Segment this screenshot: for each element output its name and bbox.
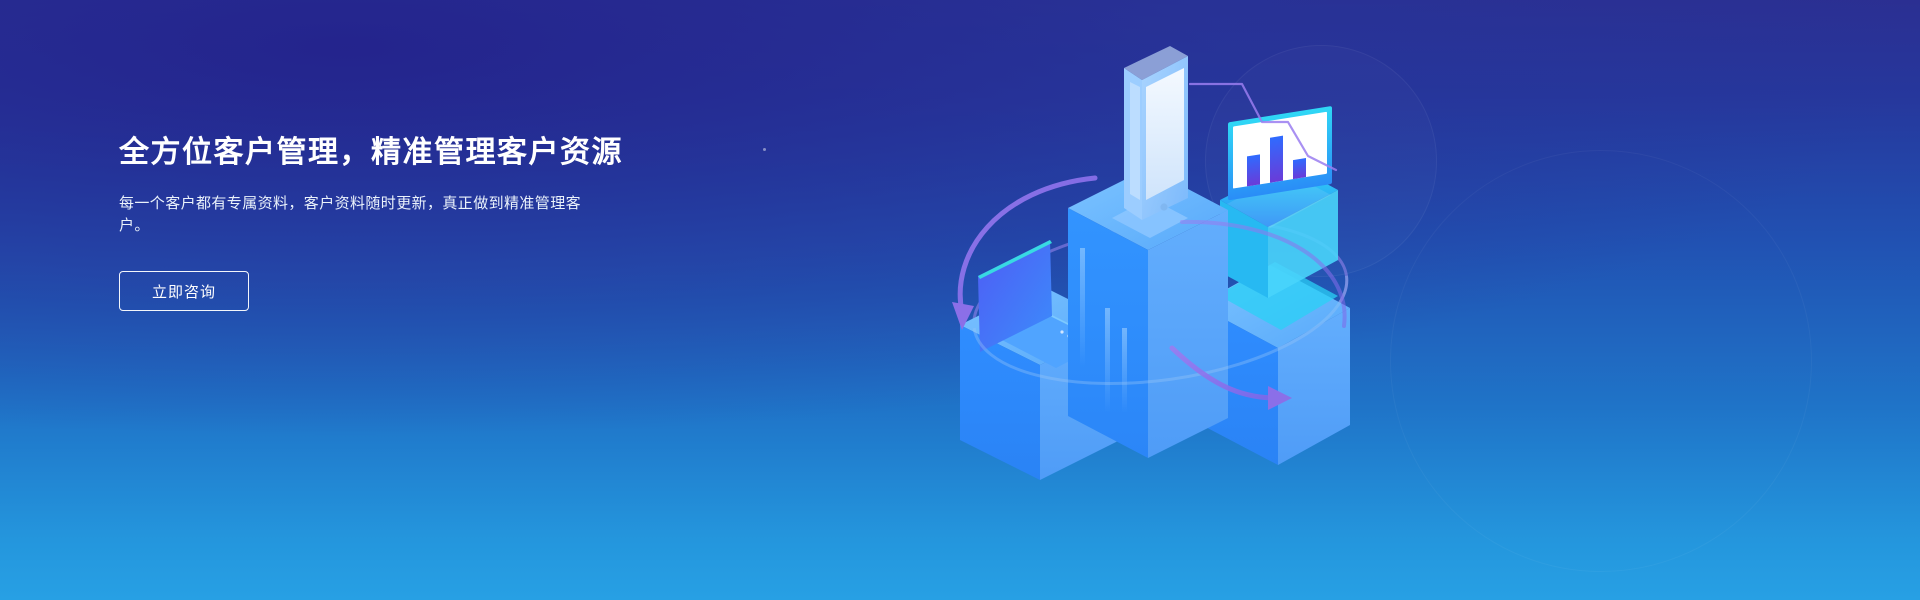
- pillar-center-side: [1148, 210, 1228, 458]
- consult-now-button[interactable]: 立即咨询: [119, 271, 249, 311]
- hero-illustration: [940, 40, 1380, 510]
- background-ring-decoration: [1390, 150, 1812, 572]
- hero-copy: 全方位客户管理，精准管理客户资源 每一个客户都有专属资料，客户资料随时更新，真正…: [119, 133, 759, 237]
- background-dot-decoration: [763, 148, 766, 151]
- page-title: 全方位客户管理，精准管理客户资源: [119, 133, 759, 173]
- hero-banner: 全方位客户管理，精准管理客户资源 每一个客户都有专属资料，客户资料随时更新，真正…: [0, 0, 1920, 600]
- page-subtitle: 每一个客户都有专属资料，客户资料随时更新，真正做到精准管理客户。: [119, 193, 601, 237]
- pillar-center-group: [1068, 46, 1228, 458]
